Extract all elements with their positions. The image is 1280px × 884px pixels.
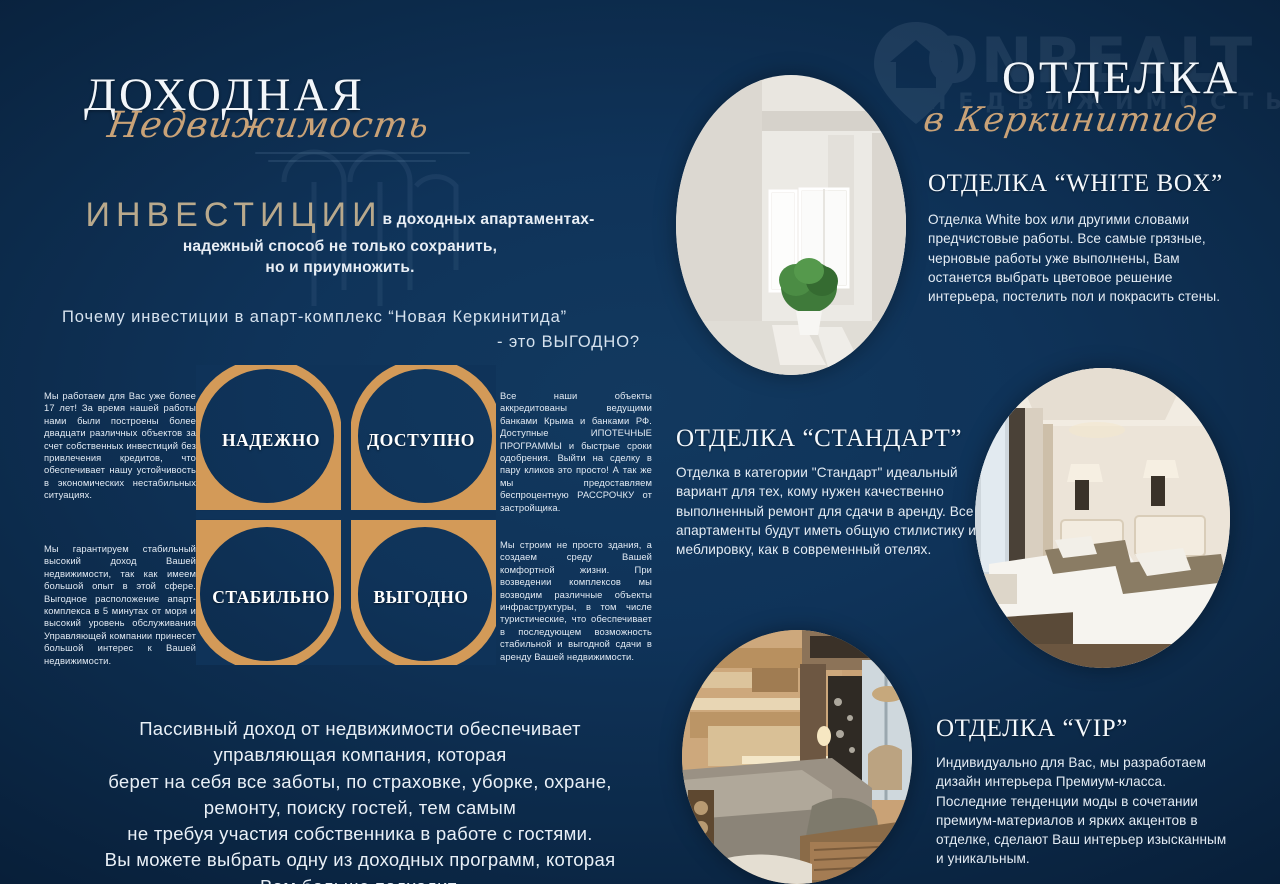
investments-headline: ИНВЕСТИЦИИв доходных апартаментах- надеж… [60,196,620,277]
bottom-line: Вам больше подходит. [40,874,680,884]
blurb-bottom-right: Мы строим не просто здания, а создаем ср… [500,539,652,663]
investments-line1: в доходных апартаментах- [383,211,595,228]
petal-label-nadezhno: НАДЕЖНО [206,430,336,451]
section-body-vip: Индивидуально для Вас, мы разработаем ди… [936,753,1236,869]
photo-white-box [676,75,906,375]
benefits-clover-diagram: НАДЕЖНО ДОСТУПНО СТАБИЛЬНО ВЫГОДНО [196,365,496,665]
why-line-1: Почему инвестиции в апарт-комплекс “Нова… [62,308,567,326]
bottom-line: управляющая компания, которая [40,742,680,768]
petal-label-stabilno: СТАБИЛЬНО [202,587,340,608]
section-body-standard: Отделка в категории "Стандарт" идеальный… [676,463,976,559]
photo-vip [682,630,912,884]
section-body-white-box: Отделка White box или другими словами пр… [928,210,1228,306]
why-invest-question: Почему инвестиции в апарт-комплекс “Нова… [62,305,640,355]
investments-word: ИНВЕСТИЦИИ [86,196,383,234]
decorative-lines [255,152,470,166]
bottom-line: не требуя участия собственника в работе … [40,821,680,847]
brochure-page: ONREALT НЕДВИЖИМОСТЬ ДОХОДНАЯ Недвижимос… [0,0,1280,884]
bottom-line: Вы можете выбрать одну из доходных прогр… [40,847,680,873]
section-title-vip: ОТДЕЛКА “VIP” [936,715,1128,743]
right-title-script: в Керкинитиде [921,100,1221,140]
investments-line3: но и приумножить. [60,259,620,277]
right-title-main: ОТДЕЛКА [1002,55,1240,102]
blurb-bottom-left: Мы гарантируем стабильный высокий доход … [44,543,196,667]
left-title-script: Недвижимость [105,108,432,144]
section-title-white-box: ОТДЕЛКА “WHITE BOX” [928,170,1223,198]
section-title-standard: ОТДЕЛКА “СТАНДАРТ” [676,425,962,453]
petal-label-dostupno: ДОСТУПНО [356,430,486,451]
bottom-line: берет на себя все заботы, по страховке, … [40,769,680,795]
blurb-top-right: Все наши объекты аккредитованы ведущими … [500,390,652,514]
blurb-top-left: Мы работаем для Вас уже более 17 лет! За… [44,390,196,502]
bottom-line: Пассивный доход от недвижимости обеспечи… [40,716,680,742]
bottom-line: ремонту, поиску гостей, тем самым [40,795,680,821]
passive-income-paragraph: Пассивный доход от недвижимости обеспечи… [40,716,680,884]
petal-label-vygodno: ВЫГОДНО [354,587,488,608]
why-line-2: - это ВЫГОДНО? [62,330,640,355]
photo-standard [975,368,1230,668]
investments-line2: надежный способ не только сохранить, [60,238,620,256]
